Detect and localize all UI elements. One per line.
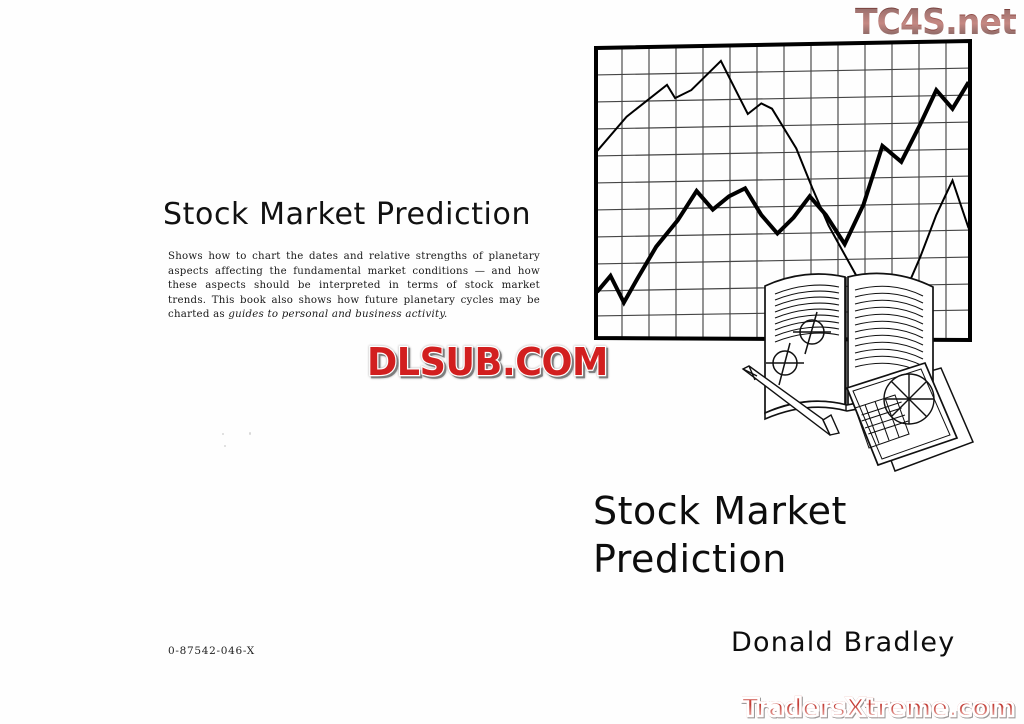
watermark-dlsub: DLSUB.COM <box>367 340 608 384</box>
front-cover-author: Donald Bradley <box>731 627 955 658</box>
scan-speck <box>224 445 226 447</box>
book-cover-scan: Stock Market Prediction Shows how to cha… <box>0 0 1024 724</box>
isbn-number: 0-87542-046-X <box>168 645 255 657</box>
book-and-papers-illustration <box>735 258 995 498</box>
watermark-tc4s: TC4S.net <box>855 2 1016 43</box>
back-cover-blurb-italic: guides to personal and business activity… <box>228 309 447 320</box>
back-cover-blurb: Shows how to chart the dates and relativ… <box>168 250 540 323</box>
watermark-tradersxtreme: TradersXtreme.com <box>742 693 1015 722</box>
front-cover-title-line1: Stock Market <box>593 489 847 533</box>
back-cover-title: Stock Market Prediction <box>163 197 531 232</box>
scan-speck <box>222 433 224 435</box>
front-cover-title-line2: Prediction <box>593 537 787 581</box>
scan-speck <box>249 432 251 435</box>
